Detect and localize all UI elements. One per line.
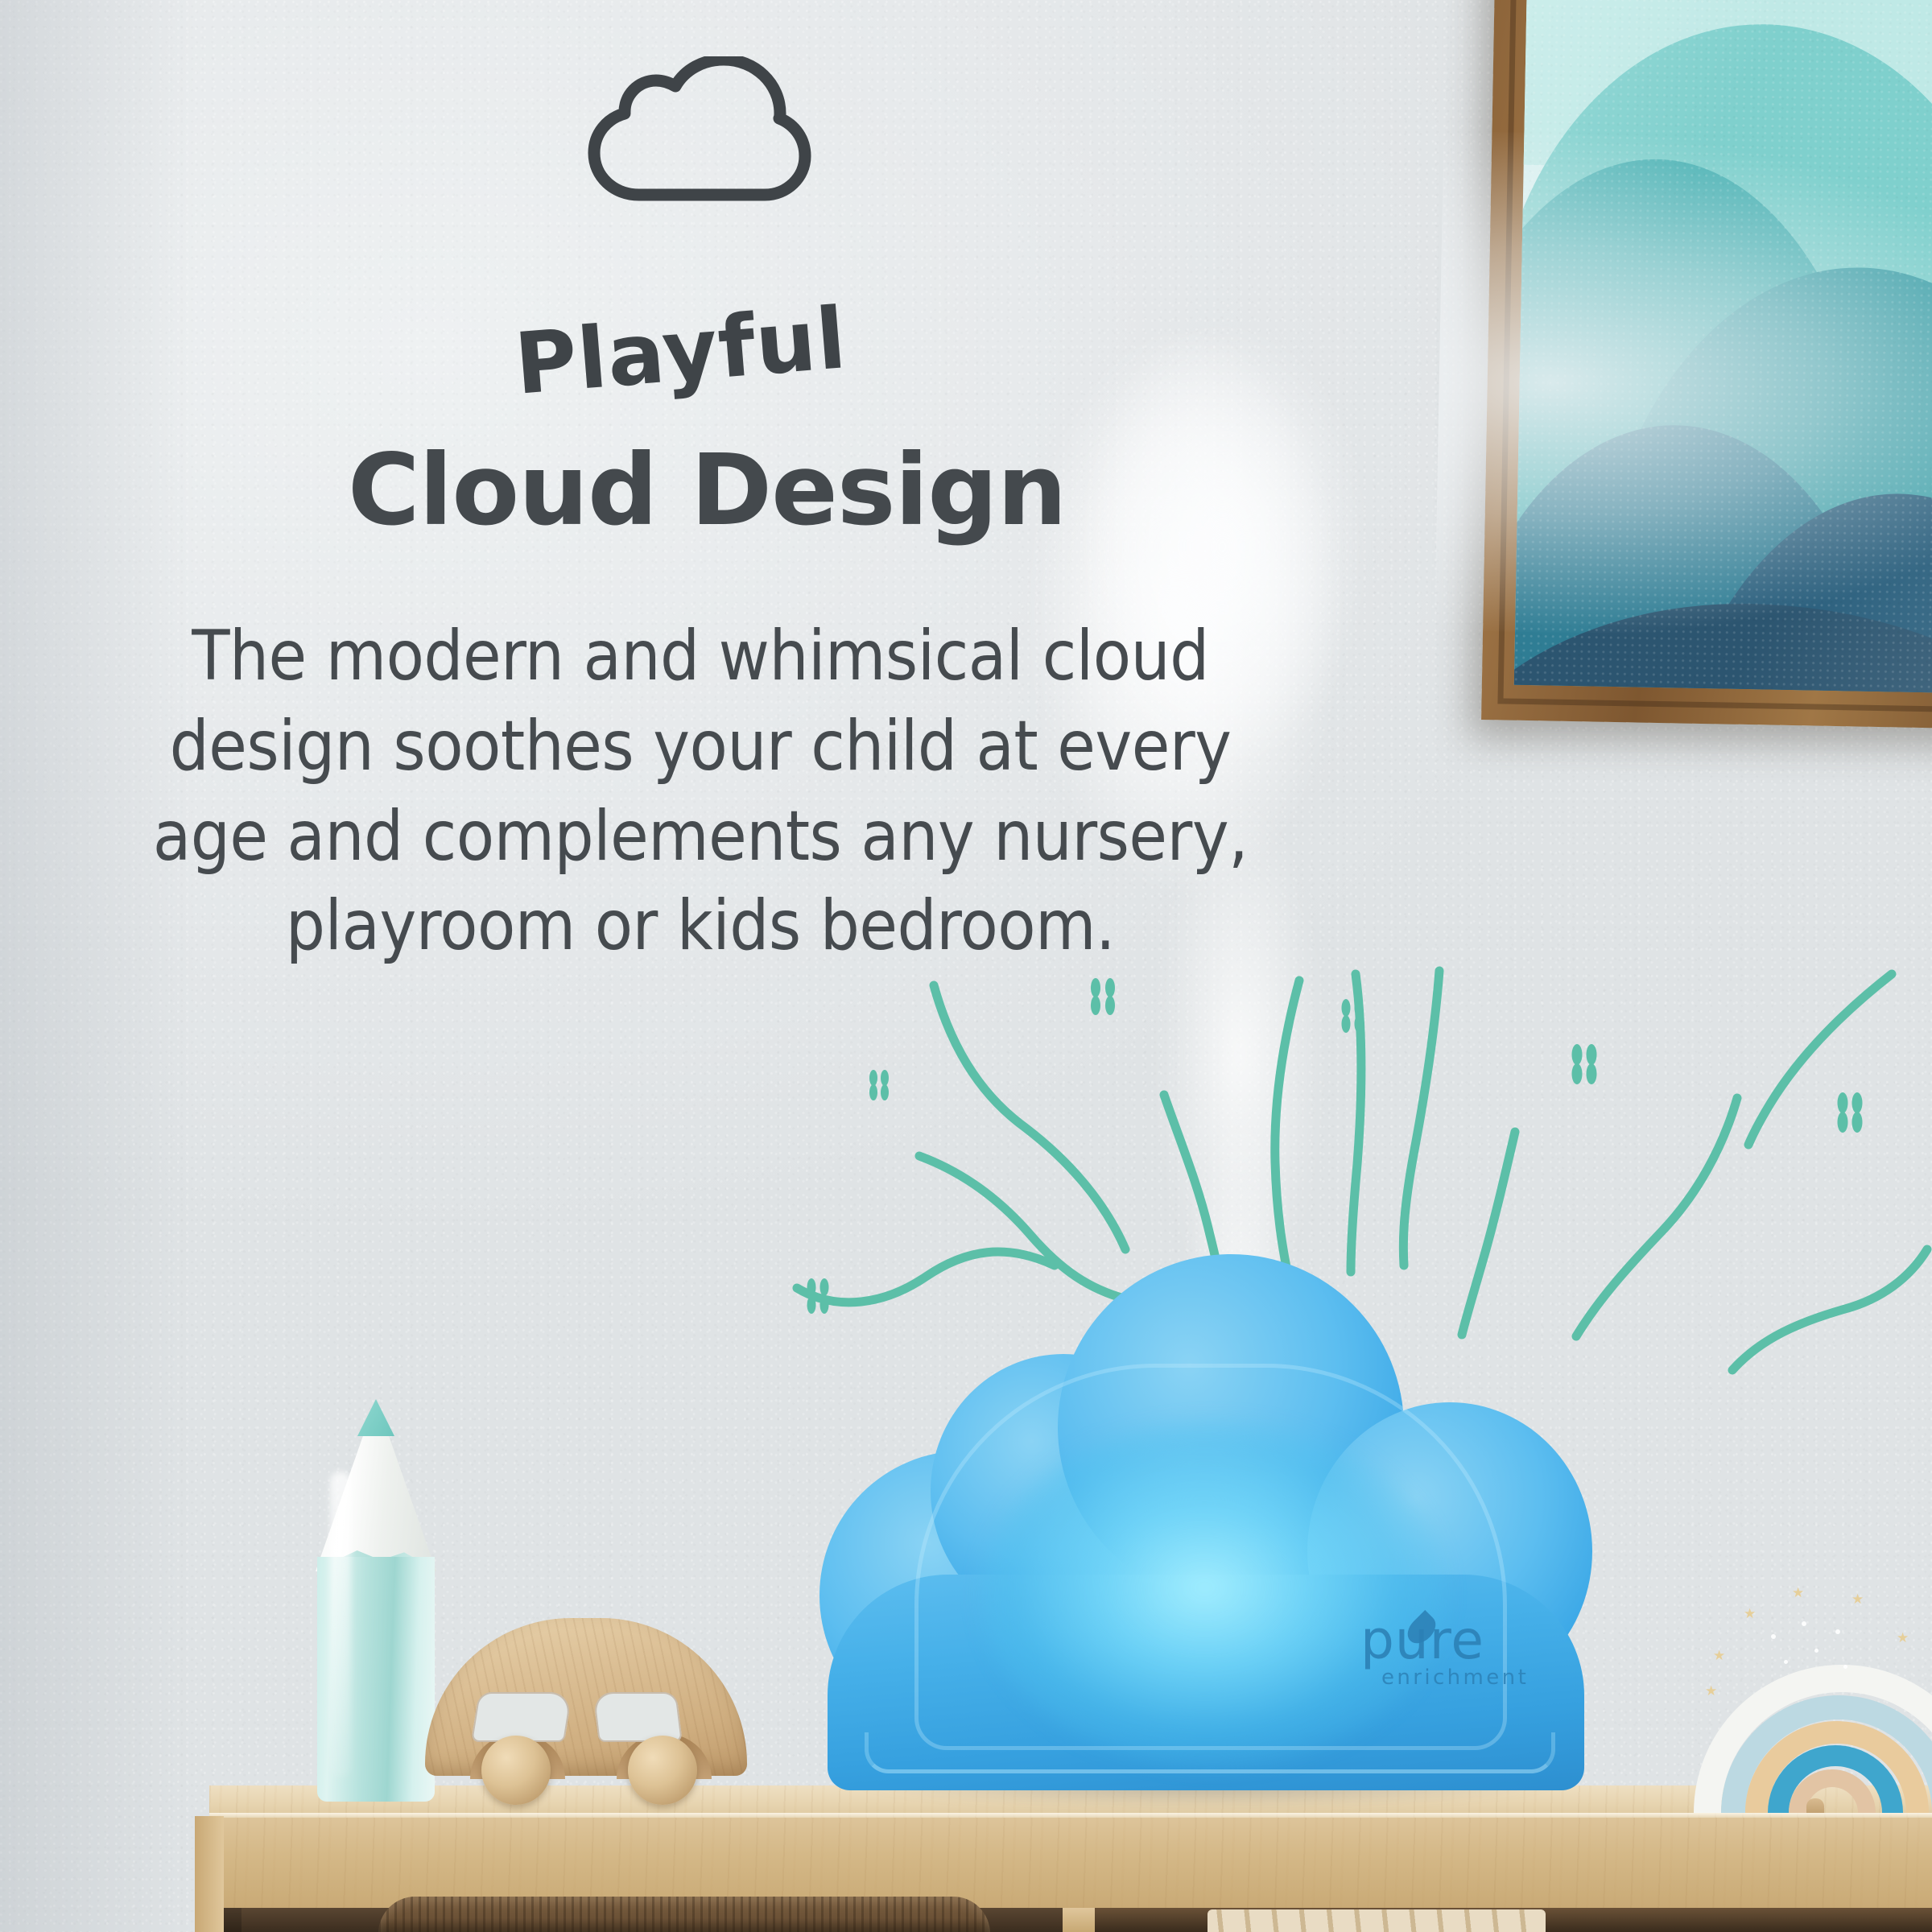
pencil-gloss-highlight xyxy=(330,1472,351,1777)
rainbow-speck-3 xyxy=(1835,1629,1840,1634)
wooden-toy-car xyxy=(425,1618,747,1805)
artwork-glass-reflection xyxy=(1514,0,1932,694)
body-line-3: age and complements any nursery, xyxy=(97,792,1304,882)
body-line-2: design soothes your child at every xyxy=(97,702,1304,792)
woven-storage-basket xyxy=(378,1897,990,1932)
car-wheel-rear xyxy=(628,1736,697,1805)
body-line-1: The modern and whimsical cloud xyxy=(97,612,1304,702)
framed-artwork xyxy=(1481,0,1932,729)
ceramic-pencil-figurine xyxy=(316,1399,436,1802)
wooden-rainbow-stacker: ★ ★ ★ ★ ★ ★ xyxy=(1694,1571,1932,1813)
brand-logo-word: pure xyxy=(1360,1616,1521,1666)
cloud-body xyxy=(819,1249,1592,1790)
rainbow-star-6: ★ xyxy=(1705,1684,1717,1698)
rainbow-speck-2 xyxy=(1802,1621,1806,1626)
shelf-divider-panel xyxy=(1063,1908,1095,1932)
rainbow-speck-6 xyxy=(1814,1649,1818,1653)
rainbow-speck-1 xyxy=(1771,1634,1776,1639)
car-wheel-front xyxy=(481,1736,551,1805)
rainbow-speck-4 xyxy=(1784,1660,1788,1664)
rolled-paper-items xyxy=(1207,1909,1546,1932)
cloud-base-seam xyxy=(865,1732,1555,1773)
product-marketing-image: Playful Cloud Design The modern and whim… xyxy=(0,0,1932,1932)
shelf-front-edge xyxy=(209,1818,1932,1908)
shelf-front-grain xyxy=(209,1818,1932,1908)
rainbow-inner-wood xyxy=(1806,1798,1824,1813)
car-window-rear xyxy=(592,1692,683,1742)
rainbow-star-2: ★ xyxy=(1744,1607,1756,1620)
shelf-left-side-panel xyxy=(195,1816,224,1932)
brand-logo-subtext: enrichment xyxy=(1381,1666,1521,1690)
car-window-front xyxy=(471,1692,572,1742)
rainbow-star-5: ★ xyxy=(1897,1631,1909,1645)
rainbow-speck-5 xyxy=(1843,1665,1847,1669)
brand-logo: pure enrichment xyxy=(1360,1616,1521,1690)
pencil-tip-point xyxy=(357,1399,394,1436)
artwork-canvas xyxy=(1514,0,1932,694)
cloud-outline-icon xyxy=(578,56,819,213)
rainbow-star-4: ★ xyxy=(1851,1592,1864,1606)
body-paragraph: The modern and whimsical cloud design so… xyxy=(97,612,1304,972)
rainbow-star-3: ★ xyxy=(1792,1586,1804,1600)
cloud-humidifier-product: pure enrichment xyxy=(819,1249,1592,1813)
basket-weave-texture xyxy=(378,1897,990,1932)
rainbow-star-1: ★ xyxy=(1713,1649,1725,1662)
page-title: Cloud Design xyxy=(348,433,1066,547)
body-line-4: playroom or kids bedroom. xyxy=(97,881,1304,972)
cloud-front-panel-seam xyxy=(914,1364,1507,1750)
